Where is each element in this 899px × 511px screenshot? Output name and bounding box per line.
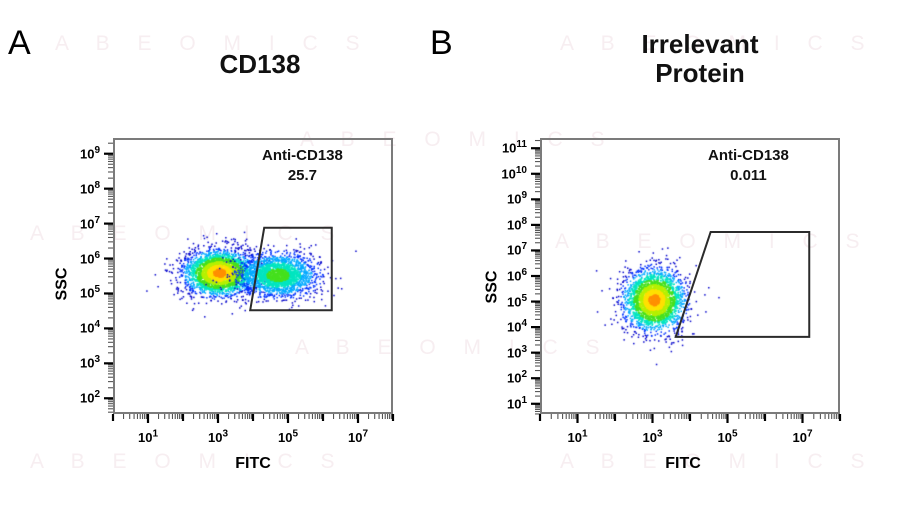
gate-annotation-value: 25.7 (262, 166, 343, 186)
panel-b-gate-annotation: Anti-CD1380.011 (708, 146, 789, 187)
gate-annotation-label: Anti-CD138 (708, 146, 789, 166)
flow-cytometry-figure: A B E O M I C SA B E O M I C SA B E O M … (0, 0, 899, 511)
panel-b-gate-polygon[interactable] (0, 0, 899, 511)
panel-a-gate-annotation: Anti-CD13825.7 (262, 146, 343, 187)
gate-annotation-value: 0.011 (708, 166, 789, 186)
gate-annotation-label: Anti-CD138 (262, 146, 343, 166)
gate-region[interactable] (676, 232, 810, 337)
